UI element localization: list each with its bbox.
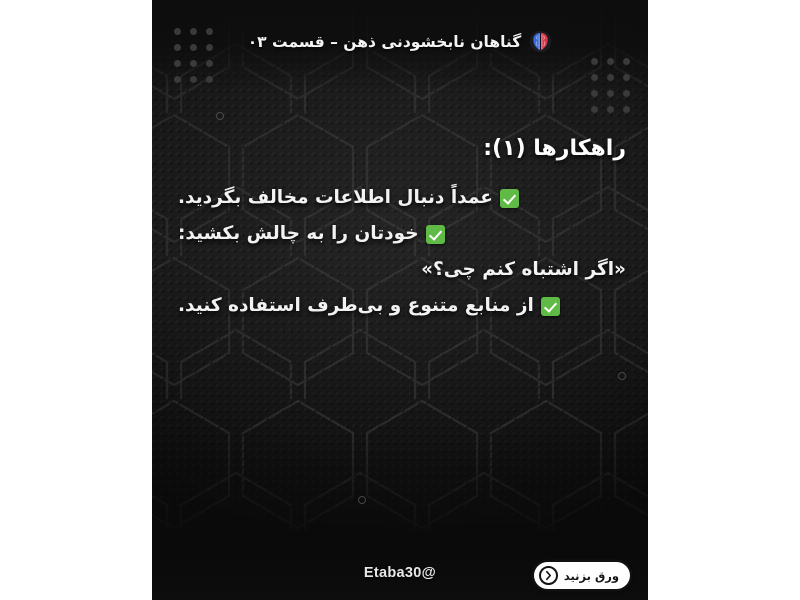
ring-accent-bottom [358,496,366,504]
list-item: عمداً دنبال اطلاعات مخالف بگردید. [178,183,626,213]
check-icon [426,225,445,244]
list-item: خودتان را به چالش بکشید: [178,219,626,249]
ring-accent-right [618,372,626,380]
header: گناهان نابخشودنی ذهن – قسمت ۰۳ [152,30,648,53]
quote-line: «اگر اشتباه کنم چی؟» [178,255,626,285]
chevron-right-icon [539,566,558,585]
list-item: از منابع متنوع و بی‌طرف استفاده کنید. [178,291,626,321]
slide-stage: گناهان نابخشودنی ذهن – قسمت ۰۳ راهکارها … [0,0,800,600]
brain-icon [529,30,552,53]
bullet-list: عمداً دنبال اطلاعات مخالف بگردید. خودتان… [178,183,626,321]
section-heading: راهکارها (۱): [178,132,626,165]
check-icon [500,189,519,208]
dot-grid-decoration-right [591,58,630,113]
swipe-button-label: ورق بزنید [564,569,621,583]
swipe-button[interactable]: ورق بزنید [534,562,630,589]
header-title: گناهان نابخشودنی ذهن – قسمت ۰۳ [248,33,522,51]
check-icon [541,297,560,316]
list-item-label: عمداً دنبال اطلاعات مخالف بگردید. [178,183,493,213]
ring-accent-top [216,112,224,120]
list-item-label: خودتان را به چالش بکشید: [178,219,419,249]
slide-canvas: گناهان نابخشودنی ذهن – قسمت ۰۳ راهکارها … [152,0,648,600]
main-content: راهکارها (۱): عمداً دنبال اطلاعات مخالف … [152,132,648,327]
list-item-label: از منابع متنوع و بی‌طرف استفاده کنید. [178,291,534,321]
